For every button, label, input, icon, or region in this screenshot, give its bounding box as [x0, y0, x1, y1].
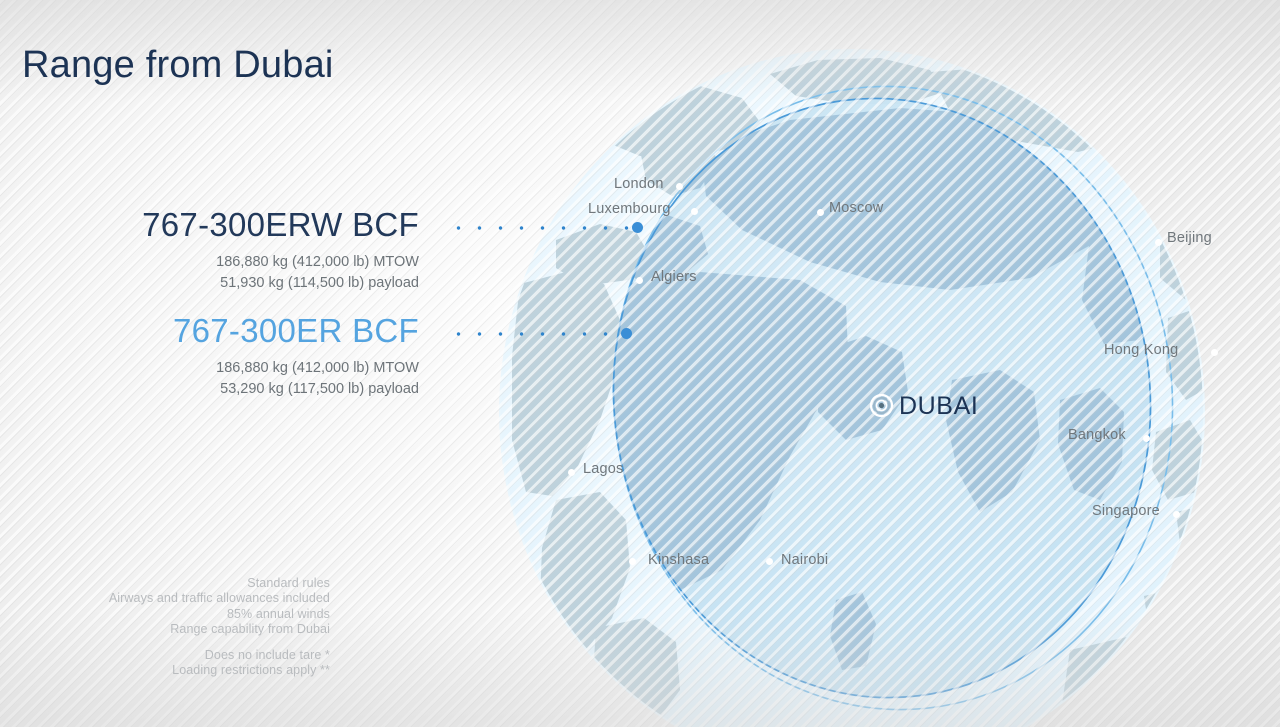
city-label-moscow: Moscow [829, 200, 883, 216]
footnote-line: 85% annual winds [0, 607, 330, 622]
leader-endpoint-er [621, 328, 632, 339]
city-dot-beijing [1155, 239, 1162, 246]
footnote-line: Standard rules [0, 576, 330, 591]
city-label-luxembourg: Luxembourg [588, 201, 671, 217]
model-spec-payload: 51,930 kg (114,500 lb) payload [0, 273, 419, 294]
city-label-hong-kong: Hong Kong [1104, 342, 1178, 358]
city-label-nairobi: Nairobi [781, 552, 828, 568]
model-block-767-300er-bcf: 767-300ER BCF 186,880 kg (412,000 lb) MT… [0, 314, 419, 400]
city-dot-bangkok [1143, 435, 1150, 442]
dubai-label: DUBAI [899, 392, 978, 421]
city-dot-algiers [636, 277, 643, 284]
city-dot-hong-kong [1211, 349, 1218, 356]
city-dot-moscow [817, 209, 824, 216]
leader-line-erw [448, 226, 634, 230]
page-title: Range from Dubai [22, 44, 334, 87]
leader-line-er [448, 332, 624, 336]
model-spec-list: 186,880 kg (412,000 lb) MTOW 51,930 kg (… [0, 252, 419, 294]
city-dot-singapore [1173, 511, 1180, 518]
city-label-bangkok: Bangkok [1068, 427, 1126, 443]
city-dot-lagos [568, 469, 575, 476]
leader-endpoint-erw [632, 222, 643, 233]
model-spec-payload: 53,290 kg (117,500 lb) payload [0, 379, 419, 400]
model-spec-list: 186,880 kg (412,000 lb) MTOW 53,290 kg (… [0, 358, 419, 400]
slide-canvas: Range from Dubai 767-300ERW BCF 186,880 … [0, 0, 1280, 727]
model-name: 767-300ERW BCF [0, 208, 419, 243]
city-dot-nairobi [766, 558, 773, 565]
model-spec-mtow: 186,880 kg (412,000 lb) MTOW [0, 252, 419, 273]
city-dot-kinshasa [629, 558, 636, 565]
model-name: 767-300ER BCF [0, 314, 419, 349]
city-label-kinshasa: Kinshasa [648, 552, 709, 568]
dubai-target-icon [870, 394, 893, 417]
city-label-beijing: Beijing [1167, 230, 1212, 246]
city-label-london: London [614, 176, 664, 192]
city-dot-london [676, 183, 683, 190]
city-label-algiers: Algiers [651, 269, 697, 285]
model-block-767-300erw-bcf: 767-300ERW BCF 186,880 kg (412,000 lb) M… [0, 208, 419, 294]
city-label-lagos: Lagos [583, 461, 624, 477]
city-dot-luxembourg [691, 208, 698, 215]
footnote-line: Range capability from Dubai [0, 622, 330, 637]
footnote-line: Does no include tare * [0, 648, 330, 663]
footnotes: Standard rules Airways and traffic allow… [0, 576, 330, 679]
city-label-singapore: Singapore [1092, 503, 1160, 519]
footnote-line: Loading restrictions apply ** [0, 663, 330, 678]
model-spec-mtow: 186,880 kg (412,000 lb) MTOW [0, 358, 419, 379]
footnote-line: Airways and traffic allowances included [0, 591, 330, 606]
